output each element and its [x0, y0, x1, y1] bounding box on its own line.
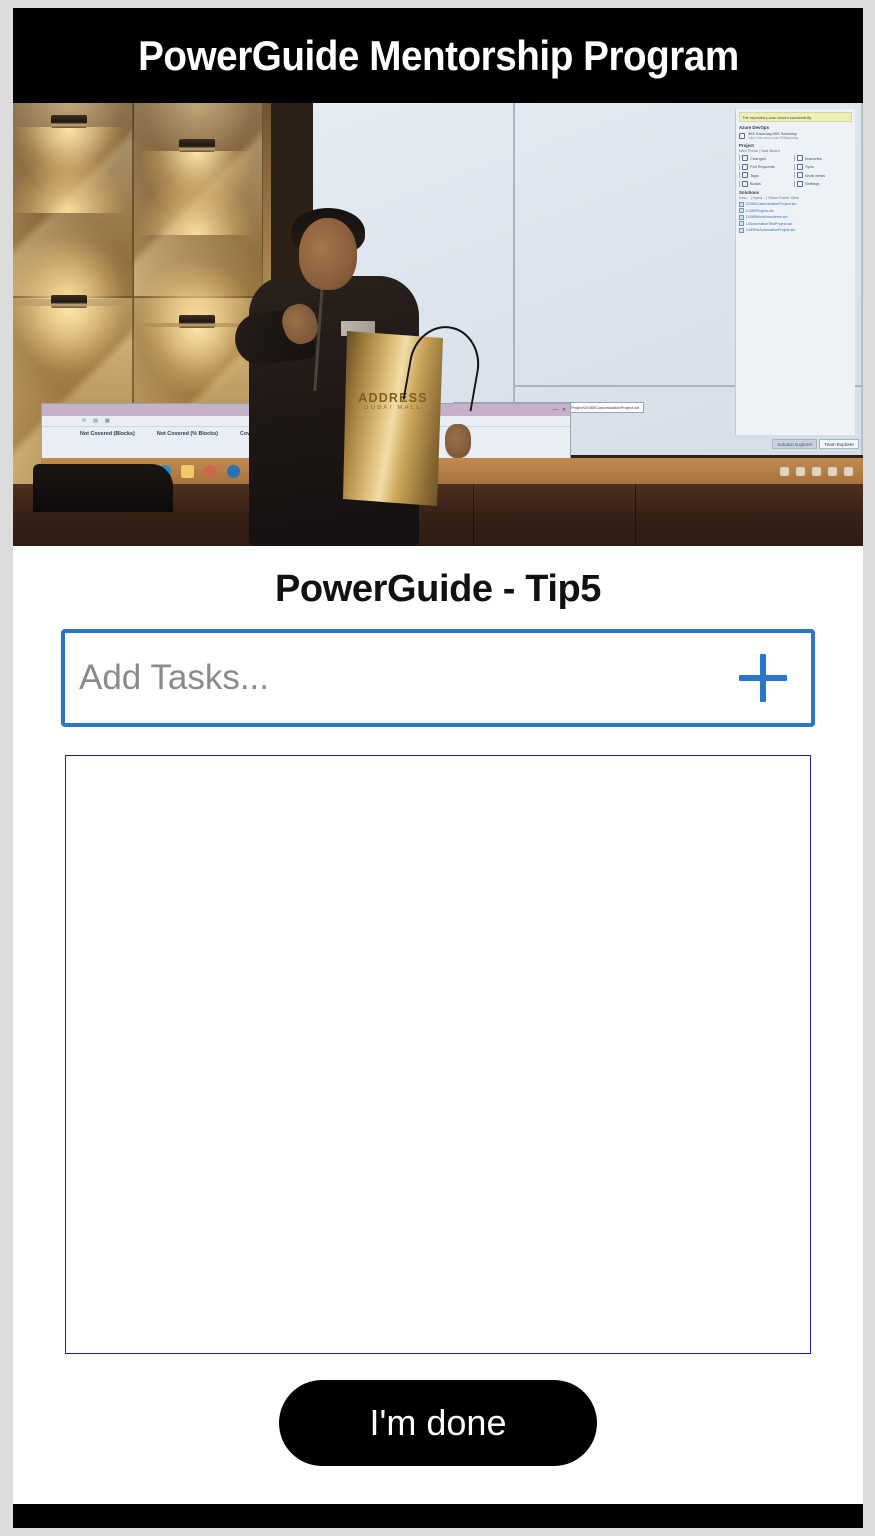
- file-explorer-icon[interactable]: [181, 465, 194, 478]
- tray-cloud-icon[interactable]: [812, 467, 821, 476]
- nav-work-items-label: Work Items: [805, 173, 825, 178]
- col-not-covered-blocks: Not Covered (Blocks): [80, 431, 135, 437]
- nav-changes-label: Changes: [750, 156, 766, 161]
- build-icon: [742, 181, 748, 187]
- nav-row: Changes Branches: [739, 155, 852, 161]
- done-button-row: I'm done: [13, 1354, 863, 1466]
- speaker-hand-right: [445, 424, 471, 458]
- app-header: PowerGuide Mentorship Program: [13, 8, 863, 103]
- desk-seam: [635, 484, 636, 546]
- solution-file-icon: [739, 208, 744, 213]
- add-task-button[interactable]: [715, 633, 811, 723]
- nav-sync[interactable]: Sync: [794, 164, 844, 170]
- task-input[interactable]: [65, 633, 715, 723]
- task-list[interactable]: [65, 755, 811, 1354]
- page-title: PowerGuide Mentorship Program: [138, 32, 739, 80]
- chrome-icon[interactable]: [204, 465, 217, 478]
- nav-work-items[interactable]: Work Items: [794, 172, 844, 178]
- tray-network-icon[interactable]: [828, 467, 837, 476]
- tray-volume-icon[interactable]: [844, 467, 853, 476]
- solution-file[interactable]: DI365Plugins.sln: [739, 208, 852, 213]
- refresh-icon[interactable]: ⟳: [82, 418, 86, 424]
- solution-file-icon: [739, 228, 744, 233]
- solution-file-label: DI365WorkflowsItems.sln: [746, 215, 788, 219]
- nav-row: Builds Settings: [739, 181, 852, 187]
- tray-pen-icon[interactable]: [780, 467, 789, 476]
- tab-solution-explorer[interactable]: Solution Explorer: [772, 439, 817, 449]
- plus-icon: [739, 654, 787, 702]
- close-icon[interactable]: ✕: [562, 407, 566, 413]
- nav-tags[interactable]: Tags: [739, 172, 789, 178]
- explorer-tabs: Solution Explorer Team Explorer: [772, 439, 859, 449]
- clone-success-banner: The repository was cloned successfully: [739, 112, 852, 122]
- chair: [33, 464, 173, 512]
- minimize-icon[interactable]: —: [553, 407, 558, 413]
- tab-team-explorer[interactable]: Team Explorer: [819, 439, 859, 449]
- settings-icon[interactable]: [227, 465, 240, 478]
- wall-sconce: [51, 115, 87, 128]
- tag-icon: [742, 172, 748, 178]
- solution-file-label: UnitTestAutomationProject.sln: [746, 228, 795, 232]
- taskbar-tray: [780, 467, 853, 476]
- gear-icon: [797, 181, 803, 187]
- podium-line-2: DUBAI MALL: [358, 405, 428, 412]
- hero-photo: The repository was cloned successfully A…: [13, 103, 863, 546]
- export-icon[interactable]: ▤: [93, 418, 98, 424]
- col-not-covered-pct: Not Covered (% Blocks): [157, 431, 218, 437]
- solution-file-label: DI365Plugins.sln: [746, 209, 774, 213]
- wall-sconce: [179, 315, 215, 328]
- nav-changes[interactable]: Changes: [739, 155, 789, 161]
- filter-icon[interactable]: ▦: [105, 418, 110, 424]
- branch-icon: [797, 155, 803, 161]
- solution-file-icon: [739, 221, 744, 226]
- solution-file[interactable]: UIAutomationTestProject.sln: [739, 221, 852, 226]
- solution-file-icon: [739, 215, 744, 220]
- solution-file-label: DI365CustomizationProject.sln: [746, 202, 796, 206]
- solution-file-icon: [739, 202, 744, 207]
- nav-row: Tags Work Items: [739, 172, 852, 178]
- team-explorer-panel: The repository was cloned successfully A…: [735, 109, 855, 435]
- add-task-row: [61, 629, 815, 727]
- nav-builds[interactable]: Builds: [739, 181, 789, 187]
- org-url-label: https://dev.azure.com/365saturday: [748, 136, 798, 140]
- nav-pull-requests[interactable]: Pull Requests: [739, 164, 789, 170]
- work-item-icon: [797, 172, 803, 178]
- solution-file[interactable]: DI365WorkflowsItems.sln: [739, 215, 852, 220]
- solutions-section: Solutions: [739, 190, 852, 195]
- nav-sync-label: Sync: [805, 164, 814, 169]
- nav-settings-label: Settings: [805, 181, 819, 186]
- solution-file[interactable]: DI365CustomizationProject.sln: [739, 202, 852, 207]
- speaker-head: [299, 218, 357, 290]
- solution-file[interactable]: UnitTestAutomationProject.sln: [739, 228, 852, 233]
- nav-branches-label: Branches: [805, 156, 822, 161]
- org-row: 365 Saturday/365 Saturday https://dev.az…: [739, 131, 852, 140]
- desk-seam: [473, 484, 474, 546]
- nav-branches[interactable]: Branches: [794, 155, 844, 161]
- azure-devops-icon: [739, 133, 745, 139]
- clock-icon: [742, 155, 748, 161]
- wall-sconce: [51, 295, 87, 308]
- tip-title: PowerGuide - Tip5: [13, 546, 863, 629]
- solution-file-label: UIAutomationTestProject.sln: [746, 222, 792, 226]
- project-links: Web Portal | Task Board: [739, 149, 852, 153]
- app-frame: PowerGuide Mentorship Program The reposi…: [13, 8, 863, 1528]
- nav-pull-requests-label: Pull Requests: [750, 164, 775, 169]
- nav-tags-label: Tags: [750, 173, 758, 178]
- wall-sconce: [179, 139, 215, 152]
- system-navigation-bar: [13, 1504, 863, 1528]
- solution-links: New... | Open... | Show Folder View: [739, 196, 852, 200]
- project-section: Project: [739, 143, 852, 148]
- nav-settings[interactable]: Settings: [794, 181, 844, 187]
- tray-chevron-icon[interactable]: [796, 467, 805, 476]
- nav-builds-label: Builds: [750, 181, 761, 186]
- nav-row: Pull Requests Sync: [739, 164, 852, 170]
- sync-icon: [797, 164, 803, 170]
- upload-icon: [742, 164, 748, 170]
- wall-panel: [13, 103, 133, 297]
- done-button[interactable]: I'm done: [279, 1380, 597, 1466]
- azure-devops-section: Azure DevOps: [739, 125, 852, 130]
